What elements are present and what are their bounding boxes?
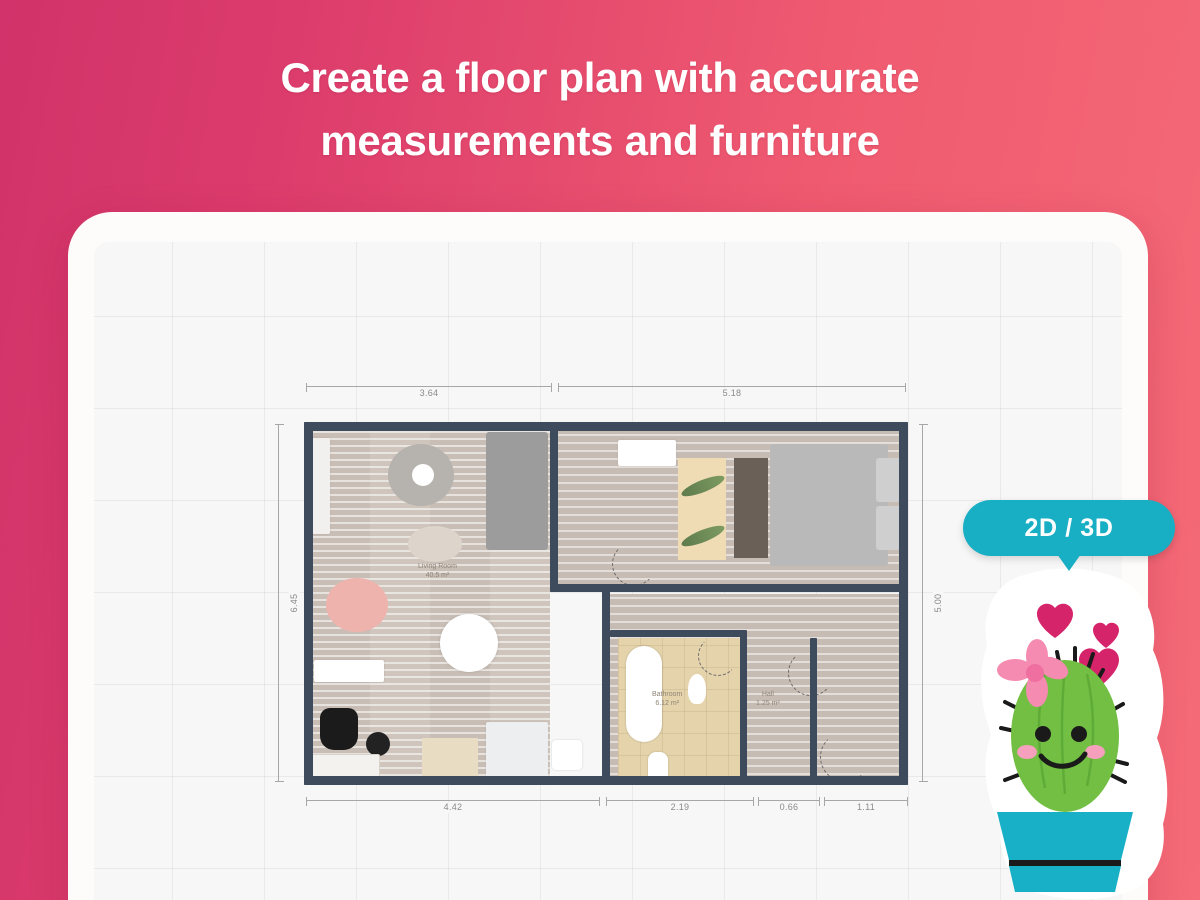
door-bathroom-icon xyxy=(698,636,738,676)
room-label-hall: Hall 1.25 m² xyxy=(756,690,780,709)
dimension-bottom-1[interactable]: 4.42 xyxy=(306,800,600,812)
sink-living[interactable] xyxy=(552,740,582,770)
rug-palm-bedroom[interactable] xyxy=(678,458,726,560)
headline-line-2: measurements and furniture xyxy=(0,109,1200,172)
wall-hall-vertical[interactable] xyxy=(810,638,817,784)
dimension-left[interactable]: 6.45 xyxy=(278,424,290,782)
page-headline: Create a floor plan with accurate measur… xyxy=(0,46,1200,172)
cactus-sticker xyxy=(975,568,1171,900)
room-label-living: Living Room 40.5 m² xyxy=(418,562,457,581)
coffee-table-round[interactable] xyxy=(412,464,434,486)
wall-unit-left[interactable] xyxy=(312,438,330,534)
bed-pillow-1[interactable] xyxy=(876,458,900,502)
room-label-bathroom: Bathroom 6.12 m² xyxy=(652,690,682,709)
mode-toggle-badge[interactable]: 2D / 3D xyxy=(963,500,1175,556)
dimension-right[interactable]: 5.00 xyxy=(922,424,934,782)
dimension-bottom-2[interactable]: 2.19 xyxy=(606,800,754,812)
dimension-top-2[interactable]: 5.18 xyxy=(558,386,906,398)
dimension-bottom-4[interactable]: 1.11 xyxy=(824,800,908,812)
counter-right[interactable] xyxy=(486,722,548,784)
sideboard[interactable] xyxy=(314,660,384,682)
wall-top[interactable] xyxy=(304,422,908,431)
wall-bathroom-top[interactable] xyxy=(610,630,746,637)
eye-left xyxy=(1035,726,1051,742)
wall-bathroom-right[interactable] xyxy=(740,630,747,780)
wall-left[interactable] xyxy=(304,422,313,785)
door-entry-icon xyxy=(820,732,870,782)
rug-pink[interactable] xyxy=(326,578,388,632)
floor-lamp[interactable] xyxy=(366,732,390,756)
rug-oval-beige[interactable] xyxy=(408,526,462,562)
headline-line-1: Create a floor plan with accurate xyxy=(281,54,920,101)
dimension-top-1[interactable]: 3.64 xyxy=(306,386,552,398)
bed-double[interactable] xyxy=(770,444,888,566)
leaf-icon xyxy=(679,522,726,550)
pot-rim xyxy=(1009,860,1121,866)
toilet[interactable] xyxy=(688,674,706,704)
mode-toggle-label: 2D / 3D xyxy=(1025,514,1114,543)
nightstand[interactable] xyxy=(618,440,676,466)
wall-right[interactable] xyxy=(899,422,908,785)
dimension-bottom-3[interactable]: 0.66 xyxy=(758,800,820,812)
door-bedroom-icon xyxy=(612,542,656,586)
wall-interior-vertical-1[interactable] xyxy=(550,422,558,592)
floorplan-canvas[interactable]: Living Room 40.5 m² Bathroom 6.12 m² Hal… xyxy=(94,242,1122,900)
cheek-left xyxy=(1017,745,1037,759)
wardrobe[interactable] xyxy=(734,458,768,558)
wall-interior-vertical-2[interactable] xyxy=(602,584,610,784)
pot-base xyxy=(1009,866,1121,892)
pot-top xyxy=(997,812,1133,860)
bed-pillow-2[interactable] xyxy=(876,506,900,550)
dining-table[interactable] xyxy=(440,614,498,672)
floor-plan[interactable]: Living Room 40.5 m² Bathroom 6.12 m² Hal… xyxy=(300,402,930,797)
leaf-icon xyxy=(679,472,726,500)
sofa-main[interactable] xyxy=(486,432,548,550)
armchair-black[interactable] xyxy=(320,708,358,750)
cheek-right xyxy=(1085,745,1105,759)
cactus-illustration xyxy=(975,568,1171,900)
eye-right xyxy=(1071,726,1087,742)
